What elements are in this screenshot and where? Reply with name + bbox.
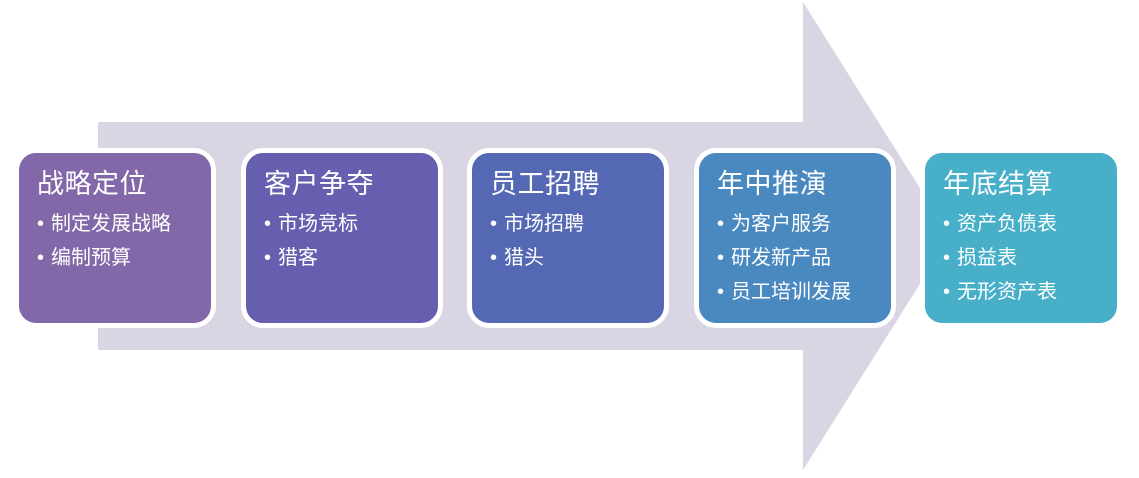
list-item: •市场竞标 xyxy=(264,207,438,241)
step-title: 年底结算 xyxy=(943,167,1117,201)
bullet-text: 市场招聘 xyxy=(504,213,584,235)
step-content: 员工招聘 •市场招聘 •猎头 xyxy=(472,153,664,275)
list-item: •资产负债表 xyxy=(943,207,1117,241)
step-content: 战略定位 •制定发展战略 •编制预算 xyxy=(19,153,211,275)
bullet-text: 为客户服务 xyxy=(731,213,831,235)
bullet-text: 制定发展战略 xyxy=(51,213,171,235)
bullet-text: 员工培训发展 xyxy=(731,281,851,303)
list-item: •猎客 xyxy=(264,241,438,275)
step-content: 客户争夺 •市场竞标 •猎客 xyxy=(246,153,438,275)
bullet-icon: • xyxy=(490,207,497,241)
step-title: 战略定位 xyxy=(37,167,211,201)
list-item: •研发新产品 xyxy=(717,241,891,275)
bullet-text: 编制预算 xyxy=(51,247,131,269)
step-title: 客户争夺 xyxy=(264,167,438,201)
bullet-icon: • xyxy=(717,275,724,309)
step-box-customer-acquisition[interactable]: 客户争夺 •市场竞标 •猎客 xyxy=(241,148,443,328)
step-bullet-list: •制定发展战略 •编制预算 xyxy=(37,207,211,275)
bullet-text: 猎头 xyxy=(504,247,544,269)
list-item: •员工培训发展 xyxy=(717,275,891,309)
bullet-text: 无形资产表 xyxy=(957,281,1057,303)
step-box-staff-recruitment[interactable]: 员工招聘 •市场招聘 •猎头 xyxy=(467,148,669,328)
bullet-icon: • xyxy=(264,241,271,275)
step-content: 年中推演 •为客户服务 •研发新产品 •员工培训发展 xyxy=(699,153,891,309)
step-title: 年中推演 xyxy=(717,167,891,201)
list-item: •市场招聘 xyxy=(490,207,664,241)
step-bullet-list: •市场招聘 •猎头 xyxy=(490,207,664,275)
list-item: •无形资产表 xyxy=(943,275,1117,309)
bullet-icon: • xyxy=(943,241,950,275)
bullet-icon: • xyxy=(943,207,950,241)
list-item: •编制预算 xyxy=(37,241,211,275)
list-item: •猎头 xyxy=(490,241,664,275)
bullet-icon: • xyxy=(717,241,724,275)
step-bullet-list: •市场竞标 •猎客 xyxy=(264,207,438,275)
bullet-icon: • xyxy=(490,241,497,275)
bullet-icon: • xyxy=(264,207,271,241)
bullet-icon: • xyxy=(943,275,950,309)
bullet-text: 市场竞标 xyxy=(278,213,358,235)
list-item: •损益表 xyxy=(943,241,1117,275)
bullet-text: 研发新产品 xyxy=(731,247,831,269)
bullet-icon: • xyxy=(717,207,724,241)
step-bullet-list: •为客户服务 •研发新产品 •员工培训发展 xyxy=(717,207,891,309)
step-content: 年底结算 •资产负债表 •损益表 •无形资产表 xyxy=(925,153,1117,309)
bullet-text: 资产负债表 xyxy=(957,213,1057,235)
step-title: 员工招聘 xyxy=(490,167,664,201)
bullet-text: 损益表 xyxy=(957,247,1017,269)
step-box-midyear-review[interactable]: 年中推演 •为客户服务 •研发新产品 •员工培训发展 xyxy=(694,148,896,328)
step-box-strategy-positioning[interactable]: 战略定位 •制定发展战略 •编制预算 xyxy=(14,148,216,328)
step-box-yearend-settlement[interactable]: 年底结算 •资产负债表 •损益表 •无形资产表 xyxy=(920,148,1122,328)
bullet-text: 猎客 xyxy=(278,247,318,269)
list-item: •制定发展战略 xyxy=(37,207,211,241)
diagram-canvas: 战略定位 •制定发展战略 •编制预算 客户争夺 •市场竞标 •猎客 员工招聘 •… xyxy=(0,0,1139,478)
bullet-icon: • xyxy=(37,207,44,241)
bullet-icon: • xyxy=(37,241,44,275)
list-item: •为客户服务 xyxy=(717,207,891,241)
step-bullet-list: •资产负债表 •损益表 •无形资产表 xyxy=(943,207,1117,309)
